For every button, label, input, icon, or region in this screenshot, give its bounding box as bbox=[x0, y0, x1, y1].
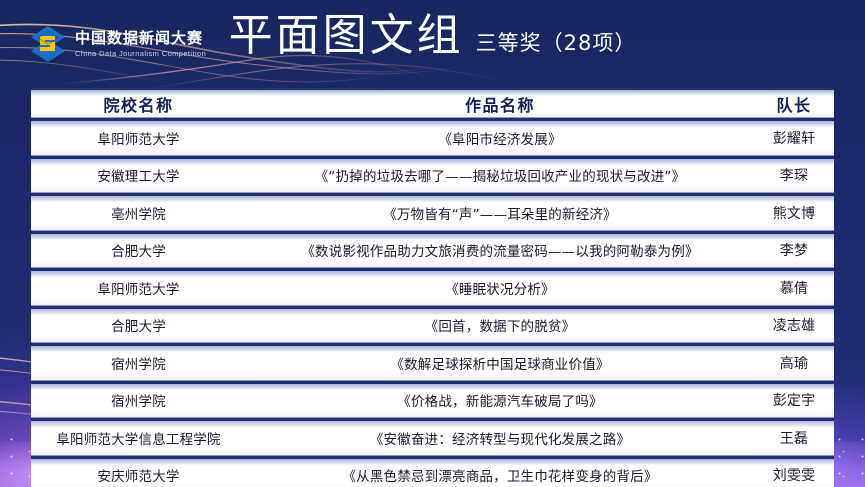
page-subtitle: 三等奖（28项） bbox=[476, 33, 637, 54]
cell-leader: 慕倩 bbox=[754, 278, 834, 298]
cell-leader: 彭定宇 bbox=[754, 390, 834, 410]
cell-work: 《“扔掉的垃圾去哪了——揭秘垃圾回收产业的现状与改进”》 bbox=[246, 165, 754, 185]
cell-work: 《阜阳市经济发展》 bbox=[246, 128, 754, 148]
cell-leader: 熊文博 bbox=[754, 203, 834, 223]
cell-school: 合肥大学 bbox=[31, 315, 246, 335]
cell-school: 阜阳师范大学信息工程学院 bbox=[31, 428, 246, 448]
cell-work: 《数解足球探析中国足球商业价值》 bbox=[246, 353, 754, 373]
cell-leader: 高瑜 bbox=[754, 353, 834, 373]
column-header-school: 院校名称 bbox=[31, 92, 246, 116]
cell-leader: 王磊 bbox=[754, 428, 834, 448]
cell-school: 宿州学院 bbox=[31, 353, 246, 373]
cell-work: 《万物皆有“声”——耳朵里的新经济》 bbox=[246, 203, 754, 223]
table-row: 亳州学院 《万物皆有“声”——耳朵里的新经济》 熊文博 bbox=[31, 193, 834, 231]
cell-school: 宿州学院 bbox=[31, 390, 246, 410]
cell-work: 《回首，数据下的脱贫》 bbox=[246, 315, 754, 335]
cell-work: 《睡眠状况分析》 bbox=[246, 278, 754, 298]
table-row: 安徽理工大学 《“扔掉的垃圾去哪了——揭秘垃圾回收产业的现状与改进”》 李琛 bbox=[31, 156, 834, 194]
cell-school: 安庆师范大学 bbox=[31, 465, 246, 485]
table-row: 合肥大学 《数说影视作品助力文旅消费的流量密码——以我的阿勒泰为例》 李梦 bbox=[31, 231, 834, 269]
column-header-leader: 队长 bbox=[754, 92, 834, 116]
cell-school: 安徽理工大学 bbox=[31, 165, 246, 185]
cell-work: 《安徽奋进：经济转型与现代化发展之路》 bbox=[246, 428, 754, 448]
table-row: 阜阳师范大学 《阜阳市经济发展》 彭耀轩 bbox=[31, 118, 834, 156]
cell-leader: 李梦 bbox=[754, 240, 834, 260]
awards-table: 院校名称 作品名称 队长 阜阳师范大学 《阜阳市经济发展》 彭耀轩 安徽理工大学… bbox=[31, 88, 834, 487]
table-row: 阜阳师范大学 《睡眠状况分析》 慕倩 bbox=[31, 268, 834, 306]
cell-leader: 李琛 bbox=[754, 165, 834, 185]
cell-school: 合肥大学 bbox=[31, 240, 246, 260]
cell-school: 阜阳师范大学 bbox=[31, 278, 246, 298]
title-block: 平面图文组 三等奖（28项） bbox=[0, 14, 865, 58]
table-row: 宿州学院 《价格战，新能源汽车破局了吗》 彭定宇 bbox=[31, 381, 834, 419]
slide-header: 中国数据新闻大赛 China Data Journalism Competiti… bbox=[0, 0, 865, 86]
table-header-row: 院校名称 作品名称 队长 bbox=[31, 88, 834, 118]
cell-work: 《价格战，新能源汽车破局了吗》 bbox=[246, 390, 754, 410]
cell-school: 亳州学院 bbox=[31, 203, 246, 223]
table-row: 阜阳师范大学信息工程学院 《安徽奋进：经济转型与现代化发展之路》 王磊 bbox=[31, 418, 834, 456]
cell-leader: 刘雯雯 bbox=[754, 465, 834, 485]
cell-work: 《数说影视作品助力文旅消费的流量密码——以我的阿勒泰为例》 bbox=[246, 240, 754, 260]
cell-work: 《从黑色禁忌到漂亮商品，卫生巾花样变身的背后》 bbox=[246, 465, 754, 485]
cell-leader: 彭耀轩 bbox=[754, 128, 834, 148]
table-row: 安庆师范大学 《从黑色禁忌到漂亮商品，卫生巾花样变身的背后》 刘雯雯 bbox=[31, 456, 834, 487]
page-title: 平面图文组 bbox=[229, 14, 464, 58]
cell-leader: 凌志雄 bbox=[754, 315, 834, 335]
column-header-work: 作品名称 bbox=[246, 92, 754, 116]
cell-school: 阜阳师范大学 bbox=[31, 128, 246, 148]
table-row: 合肥大学 《回首，数据下的脱贫》 凌志雄 bbox=[31, 306, 834, 344]
table-row: 宿州学院 《数解足球探析中国足球商业价值》 高瑜 bbox=[31, 343, 834, 381]
